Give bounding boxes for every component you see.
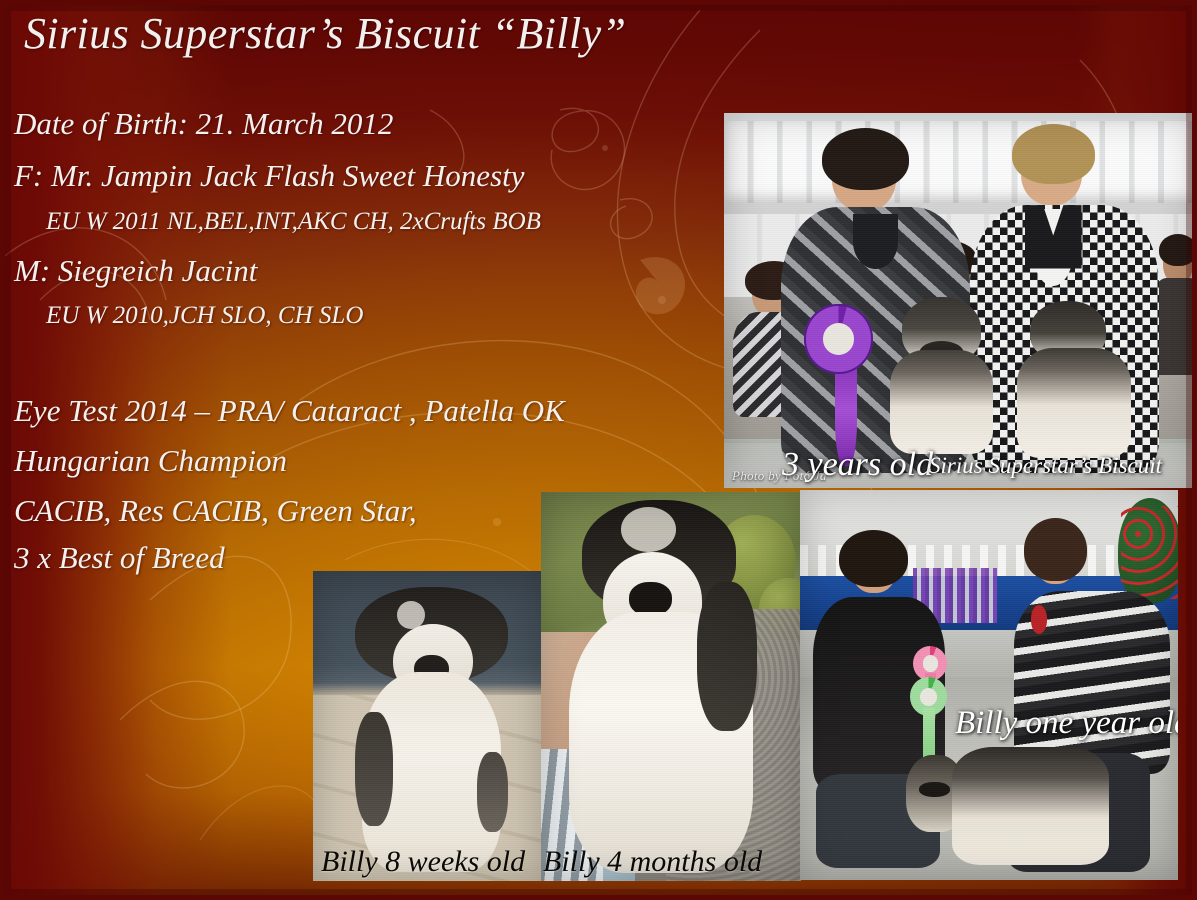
photo-dog-billy <box>880 297 1003 455</box>
photo-3-years-old[interactable]: Photo by Fotó Já 3 years old Sirius Supe… <box>724 113 1197 488</box>
achievement-line-bob: 3 x Best of Breed <box>14 540 225 576</box>
page-title: Sirius Superstar’s Biscuit “Billy” <box>24 8 626 59</box>
info-line-dob: Date of Birth: 21. March 2012 <box>14 106 393 142</box>
achievement-line-champion: Hungarian Champion <box>14 443 287 479</box>
photo-caption-kennel-name: Sirius Superstar’s Biscuit <box>929 453 1162 479</box>
achievement-line-eye-test: Eye Test 2014 – PRA/ Cataract , Patella … <box>14 393 565 429</box>
photo-dog-second <box>1013 301 1136 459</box>
achievement-line-cacib: CACIB, Res CACIB, Green Star, <box>14 493 417 529</box>
photo-caption-3-years: 3 years old <box>782 446 933 484</box>
photo-puppy-8-weeks <box>345 587 518 872</box>
photo-4-months-old[interactable]: Billy 4 months old <box>541 492 801 881</box>
info-line-sire-titles: EU W 2011 NL,BEL,INT,AKC CH, 2xCrufts BO… <box>46 208 541 236</box>
slide-canvas: Sirius Superstar’s Biscuit “Billy” Date … <box>0 0 1197 900</box>
info-line-sire: F: Mr. Jampin Jack Flash Sweet Honesty <box>14 158 525 194</box>
photo-caption-4-months: Billy 4 months old <box>543 845 762 879</box>
photo-caption-one-year: Billy one year old <box>955 705 1178 742</box>
info-line-dam-titles: EU W 2010,JCH SLO, CH SLO <box>46 302 363 330</box>
photo-rosette-purple <box>804 304 873 373</box>
photo-caption-8-weeks: Billy 8 weeks old <box>321 845 525 879</box>
photo-dog-billy <box>906 747 1118 872</box>
photo-one-year-old[interactable]: Billy one year old <box>800 490 1178 880</box>
photo-puppy-4-months <box>557 500 770 873</box>
info-line-dam: M: Siegreich Jacint <box>14 253 257 289</box>
photo-8-weeks-old[interactable]: Billy 8 weeks old <box>313 571 541 881</box>
